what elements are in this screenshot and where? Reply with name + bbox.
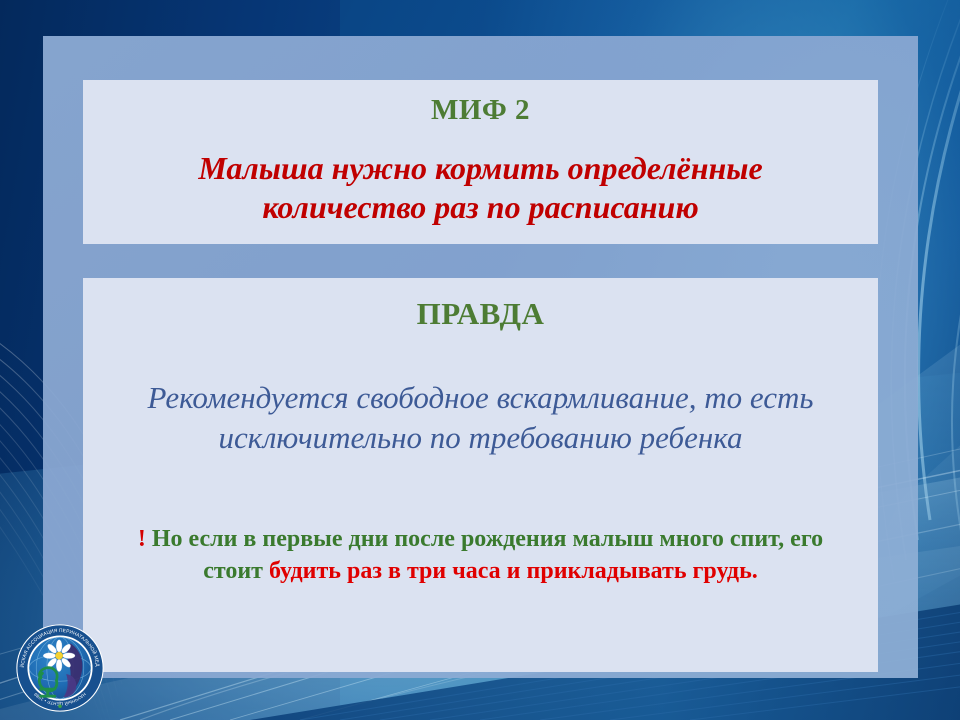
note-red-text: будить раз в три часа и прикладывать гру…: [269, 558, 758, 584]
myth-statement: Малыша нужно кормить определённые количе…: [109, 149, 852, 227]
medical-center-emblem-icon: РОССИЙСКАЯ АССОЦИАЦИЯ ПЕРИНАТАЛЬНОЙ МЕДИ…: [16, 624, 104, 712]
truth-statement: Рекомендуется свободное вскармливание, т…: [103, 378, 858, 459]
exclamation-mark: !: [138, 526, 146, 552]
myth-box: МИФ 2 Малыша нужно кормить определённые …: [83, 80, 878, 244]
truth-note: ! Но если в первые дни после рождения ма…: [103, 524, 858, 587]
myth-heading: МИФ 2: [109, 94, 852, 127]
slide-canvas: МИФ 2 Малыша нужно кормить определённые …: [0, 0, 960, 720]
truth-heading: ПРАВДА: [103, 296, 858, 332]
truth-box: ПРАВДА Рекомендуется свободное вскармлив…: [83, 278, 878, 672]
